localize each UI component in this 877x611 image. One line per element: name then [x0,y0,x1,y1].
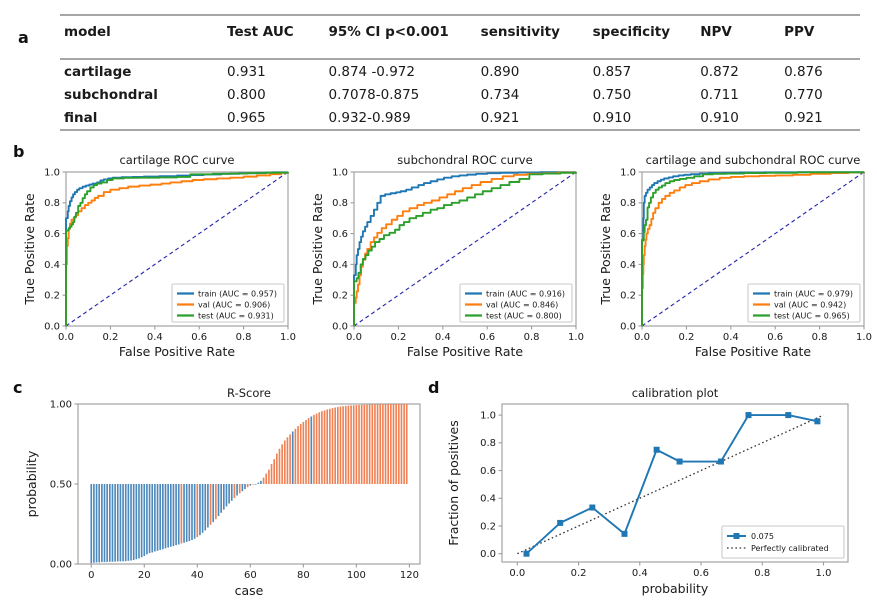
calibration-marker [654,447,660,453]
legend-label-2: test (AUC = 0.965) [774,312,850,321]
cell-sensitivity: 0.734 [477,83,589,106]
rscore-bar [125,484,127,561]
rscore-bar [342,406,344,484]
cell-test-auc: 0.931 [223,59,324,83]
cell-sensitivity: 0.890 [477,59,589,83]
x-tick-label: 0.0 [634,332,650,343]
x-tick-label: 1.0 [856,332,872,343]
y-tick-label: 0.50 [50,479,72,490]
rscore-bar [143,484,145,556]
legend-label-0: 0.075 [751,532,774,541]
x-tick-label: 0.4 [147,332,163,343]
roc-legend: train (AUC = 0.957)val (AUC = 0.906)test… [172,284,284,322]
table-header-row: model Test AUC 95% CI p<0.001 sensitivit… [60,15,860,59]
roc-legend: train (AUC = 0.916)val (AUC = 0.846)test… [460,284,572,322]
x-axis-label: case [235,583,264,598]
y-tick-label: 1.0 [332,167,348,178]
rscore-bar [186,484,188,542]
rscore-bar [106,484,108,562]
table-row: subchondral 0.800 0.7078-0.875 0.734 0.7… [60,83,860,106]
rscore-bar [371,404,373,484]
cell-npv: 0.910 [696,106,780,130]
x-tick-label: 0.8 [812,332,828,343]
y-tick-label: 0.8 [620,198,636,209]
rscore-bar [170,484,172,547]
th-specificity: specificity [589,15,697,59]
rscore-bar [167,484,169,548]
rscore-bar [337,407,339,484]
rscore-bar [159,484,161,550]
th-npv: NPV [696,15,780,59]
roc-cartilage-svg: cartilage ROC curve0.00.20.40.60.81.00.0… [20,148,300,373]
rscore-bar [287,437,289,484]
rscore-bar [353,405,355,484]
y-tick-label: 0.2 [480,521,496,532]
x-tick-label: 0.8 [754,568,770,579]
rscore-bar [255,484,257,485]
rscore-bar [189,484,191,541]
legend-label-0: train (AUC = 0.957) [198,290,277,299]
rscore-bar [295,429,297,484]
rscore-bar [194,484,196,539]
rscore-bar [90,484,92,563]
cell-test-auc: 0.965 [223,106,324,130]
panel-label-a: a [18,28,29,47]
rscore-bar [361,405,363,484]
calibration-marker [589,505,595,511]
chart-title: cartilage ROC curve [119,153,234,167]
table-body: cartilage 0.931 0.874 -0.972 0.890 0.857… [60,59,860,130]
rscore-bar [356,405,358,484]
y-tick-label: 0.6 [620,229,636,240]
rscore-bar [154,484,156,552]
rscore-bar [210,484,212,525]
x-axis-label: probability [642,581,709,596]
roc-chart-subchondral: subchondral ROC curve0.00.20.40.60.81.00… [308,148,588,373]
x-tick-label: 1.0 [816,568,832,579]
roc-chart-cartilage: cartilage ROC curve0.00.20.40.60.81.00.0… [20,148,300,373]
x-tick-label: 120 [400,570,419,581]
rscore-bar [220,484,222,513]
legend-label-1: Perfectly calibrated [751,544,829,553]
x-axis-label: False Positive Rate [119,344,235,359]
cell-test-auc: 0.800 [223,83,324,106]
cell-specificity: 0.910 [589,106,697,130]
y-axis-label: Fraction of positives [446,420,461,545]
cell-model: cartilage [60,59,223,83]
calibration-marker [523,551,529,557]
roc-legend: train (AUC = 0.979)val (AUC = 0.942)test… [748,284,860,322]
rscore-bars [90,404,407,563]
rscore-bar [250,484,252,486]
calibration-marker [718,459,724,465]
y-tick-label: 0.4 [620,260,636,271]
rscore-bar [398,404,400,484]
x-tick-label: 40 [191,570,204,581]
rscore-bar [276,454,278,484]
cell-specificity: 0.750 [589,83,697,106]
y-tick-label: 1.0 [620,167,636,178]
x-tick-label: 0.2 [102,332,118,343]
table-row: final 0.965 0.932-0.989 0.921 0.910 0.91… [60,106,860,130]
cell-ci: 0.7078-0.875 [325,83,477,106]
x-tick-label: 0.0 [346,332,362,343]
th-ppv: PPV [780,15,860,59]
rscore-bar [406,404,408,484]
cell-sensitivity: 0.921 [477,106,589,130]
y-tick-label: 0.8 [480,438,496,449]
cell-ci: 0.932-0.989 [325,106,477,130]
calibration-svg: calibration plot0.00.20.40.60.81.00.00.2… [440,382,870,610]
rscore-bar [324,410,326,484]
rscore-bar [234,484,236,498]
rscore-bar [345,406,347,484]
rscore-bar [374,404,376,484]
legend-box [722,526,844,558]
x-axis-label: False Positive Rate [407,344,523,359]
rscore-bar [318,412,320,484]
rscore-bar [257,483,259,484]
rscore-bar [138,484,140,558]
th-ci: 95% CI p<0.001 [325,15,477,59]
rscore-bar [340,407,342,484]
rscore-bar [231,484,233,501]
rscore-bar [390,404,392,484]
x-tick-label: 0.8 [524,332,540,343]
x-tick-label: 0.4 [435,332,451,343]
y-tick-label: 1.0 [44,167,60,178]
rscore-bar [305,420,307,484]
rscore-bar [130,484,132,560]
y-tick-label: 1.0 [480,410,496,421]
rscore-bar [279,449,281,484]
chart-title: R-Score [227,386,271,400]
rscore-bar [101,484,103,562]
cell-ci: 0.874 -0.972 [325,59,477,83]
rscore-bar [385,404,387,484]
rscore-bar [183,484,185,543]
rscore-bar [242,484,244,491]
y-tick-label: 1.00 [50,399,72,410]
cell-specificity: 0.857 [589,59,697,83]
rscore-bar [215,484,217,519]
rscore-bar [93,484,95,563]
rscore-bar [112,484,114,562]
plot-frame [78,404,420,564]
th-sensitivity: sensitivity [477,15,589,59]
rscore-bar [382,404,384,484]
cell-npv: 0.711 [696,83,780,106]
rscore-bar [146,484,148,554]
y-tick-label: 0.6 [44,229,60,240]
rscore-bar [162,484,164,549]
rscore-bar [149,484,151,553]
rscore-bar [310,416,312,484]
y-tick-label: 0.2 [620,291,636,302]
y-tick-label: 0.00 [50,559,72,570]
cell-npv: 0.872 [696,59,780,83]
table-header: model Test AUC 95% CI p<0.001 sensitivit… [60,15,860,59]
cell-ppv: 0.876 [780,59,860,83]
rscore-bar [204,484,206,530]
rscore-bar [348,406,350,484]
y-tick-label: 0.4 [44,260,60,271]
chart-title: subchondral ROC curve [397,153,532,167]
rscore-bar [334,408,336,484]
legend-label-2: test (AUC = 0.800) [486,312,562,321]
x-tick-label: 0.6 [191,332,207,343]
y-tick-label: 0.8 [44,198,60,209]
x-tick-label: 100 [347,570,366,581]
x-tick-label: 0.2 [390,332,406,343]
x-tick-label: 20 [138,570,151,581]
rscore-bar [401,404,403,484]
rscore-svg: R-Score0204060801001200.000.501.00casepr… [20,382,430,610]
rscore-bar [173,484,175,546]
roc-chart-final: cartilage and subchondral ROC curve0.00.… [596,148,876,373]
rscore-bar [321,411,323,484]
cell-model: final [60,106,223,130]
rscore-bar [175,484,177,545]
rscore-bar [120,484,122,561]
x-tick-label: 0.6 [693,568,709,579]
x-tick-label: 0.0 [58,332,74,343]
rscore-bar [165,484,167,548]
rscore-bar [387,404,389,484]
rscore-bar [244,484,246,489]
results-table: model Test AUC 95% CI p<0.001 sensitivit… [60,14,860,131]
rscore-bar [157,484,159,551]
rscore-bar [128,484,130,561]
legend-label-1: val (AUC = 0.906) [198,301,270,310]
rscore-bar [297,426,299,484]
rscore-bar [207,484,209,528]
rscore-bar [350,405,352,484]
rscore-bar [151,484,153,552]
x-tick-label: 0.4 [632,568,648,579]
calibration-marker [745,412,751,418]
rscore-bar [218,484,220,516]
rscore-bar [289,434,291,484]
rscore-bar [114,484,116,562]
rscore-bar [364,405,366,484]
rscore-bar [104,484,106,562]
chart-title: cartilage and subchondral ROC curve [646,153,861,167]
y-tick-label: 0.6 [332,229,348,240]
y-tick-label: 0.8 [332,198,348,209]
rscore-chart: R-Score0204060801001200.000.501.00casepr… [20,382,430,610]
roc-final-svg: cartilage and subchondral ROC curve0.00.… [596,148,876,373]
y-axis-label: probability [24,450,39,517]
x-tick-label: 0.0 [509,568,525,579]
results-table-container: model Test AUC 95% CI p<0.001 sensitivit… [60,14,860,131]
x-axis-label: False Positive Rate [695,344,811,359]
rscore-bar [98,484,100,562]
x-tick-label: 0.4 [723,332,739,343]
rscore-bar [292,432,294,484]
x-tick-label: 0.6 [479,332,495,343]
y-tick-label: 0.6 [480,466,496,477]
rscore-bar [263,478,265,484]
calibration-chart: calibration plot0.00.20.40.60.81.00.00.2… [440,382,870,610]
rscore-bar [133,484,135,560]
rscore-bar [191,484,193,540]
rscore-bar [212,484,214,522]
legend-label-0: train (AUC = 0.916) [486,290,565,299]
rscore-bar [202,484,204,533]
rscore-bar [199,484,201,535]
y-axis-label: True Positive Rate [310,193,325,306]
rscore-bar [196,484,198,537]
rscore-bar [332,408,334,484]
rscore-bar [178,484,180,544]
rscore-bar [395,404,397,484]
x-tick-label: 0 [88,570,94,581]
y-tick-label: 0.4 [480,494,496,505]
rscore-bar [265,474,267,484]
x-tick-label: 1.0 [280,332,296,343]
rscore-bar [308,418,310,484]
rscore-bar [316,414,318,484]
rscore-bar [329,409,331,484]
calibration-marker [785,412,791,418]
rscore-bar [181,484,183,544]
rscore-bar [377,404,379,484]
x-tick-label: 0.2 [678,332,694,343]
rscore-bar [281,444,283,484]
y-axis-label: True Positive Rate [598,193,613,306]
rscore-bar [358,405,360,484]
legend-label-1: val (AUC = 0.846) [486,301,558,310]
y-axis-label: True Positive Rate [22,193,37,306]
th-test-auc: Test AUC [223,15,324,59]
rscore-bar [326,409,328,484]
y-tick-label: 0.0 [620,321,636,332]
y-tick-label: 0.0 [44,321,60,332]
x-tick-label: 0.6 [767,332,783,343]
rscore-bar [393,404,395,484]
calibration-marker [677,459,683,465]
y-tick-label: 0.4 [332,260,348,271]
rscore-bar [239,484,241,493]
y-tick-label: 0.0 [332,321,348,332]
rscore-bar [228,484,230,504]
rscore-bar [379,404,381,484]
calibration-marker [814,418,820,424]
x-tick-label: 1.0 [568,332,584,343]
table-row: cartilage 0.931 0.874 -0.972 0.890 0.857… [60,59,860,83]
y-tick-label: 0.2 [44,291,60,302]
legend-label-0: train (AUC = 0.979) [774,290,853,299]
rscore-bar [271,464,273,484]
rscore-bar [252,484,254,485]
x-tick-label: 80 [297,570,310,581]
calibration-marker [557,520,563,526]
rscore-bar [109,484,111,562]
chart-title: calibration plot [632,386,719,400]
x-tick-label: 0.8 [236,332,252,343]
th-model: model [60,15,223,59]
legend-label-1: val (AUC = 0.942) [774,301,846,310]
rscore-bar [303,422,305,484]
calibration-legend: 0.075Perfectly calibrated [722,526,844,558]
rscore-bar [236,484,238,496]
rscore-bar [247,484,249,487]
y-tick-label: 0.2 [332,291,348,302]
legend-label-2: test (AUC = 0.931) [198,312,274,321]
calibration-marker [621,531,627,537]
rscore-bar [313,415,315,484]
rscore-bar [117,484,119,561]
cell-ppv: 0.770 [780,83,860,106]
rscore-bar [96,484,98,562]
rscore-bar [273,459,275,484]
rscore-bar [300,424,302,484]
legend-marker-0 [734,533,740,539]
rscore-bar [403,404,405,484]
rscore-bar [268,470,270,484]
rscore-bar [260,481,262,484]
rscore-bar [226,484,228,506]
y-tick-label: 0.0 [480,549,496,560]
rscore-bar [223,484,225,510]
cell-ppv: 0.921 [780,106,860,130]
x-tick-label: 60 [244,570,257,581]
x-tick-label: 0.2 [571,568,587,579]
rscore-bar [141,484,143,557]
roc-subchondral-svg: subchondral ROC curve0.00.20.40.60.81.00… [308,148,588,373]
rscore-bar [122,484,124,561]
rscore-bar [366,405,368,484]
rscore-bar [136,484,138,559]
cell-model: subchondral [60,83,223,106]
rscore-bar [284,440,286,484]
rscore-bar [369,404,371,484]
